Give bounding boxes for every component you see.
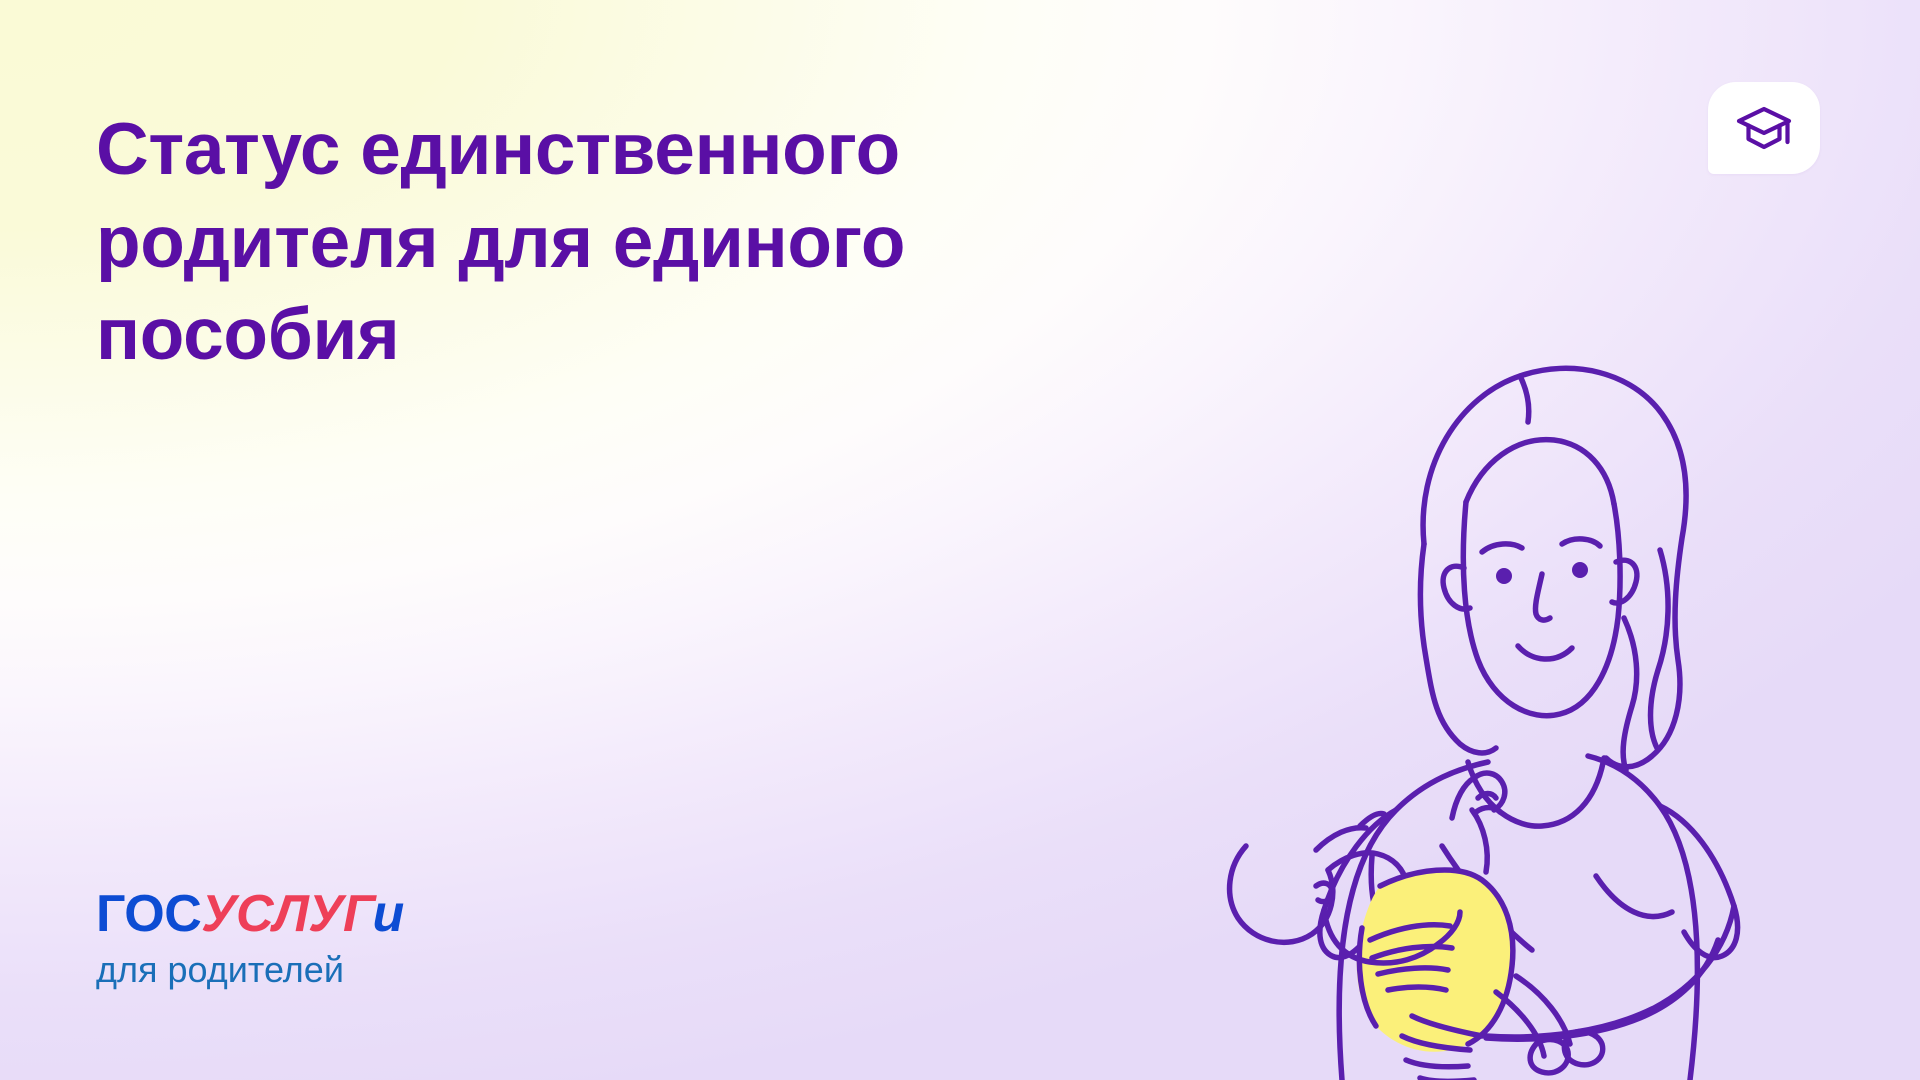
logo-wordmark: ГОСУСЛУГи [96,888,516,940]
page-title: Статус единственного родителя для единог… [96,104,1146,382]
poster-canvas: Статус единственного родителя для единог… [0,0,1920,1080]
logo-word-part-uslug: УСЛУГ [201,885,372,943]
graduation-cap-badge [1708,82,1820,174]
mother-holding-baby-illustration [1220,250,1780,1080]
logo-word-part-gos: ГОС [96,885,201,943]
gosuslugi-logo: ГОСУСЛУГи для родителей [96,888,516,988]
logo-word-part-i: и [372,885,403,943]
logo-subtitle: для родителей [96,952,516,988]
graduation-cap-icon [1735,104,1793,152]
